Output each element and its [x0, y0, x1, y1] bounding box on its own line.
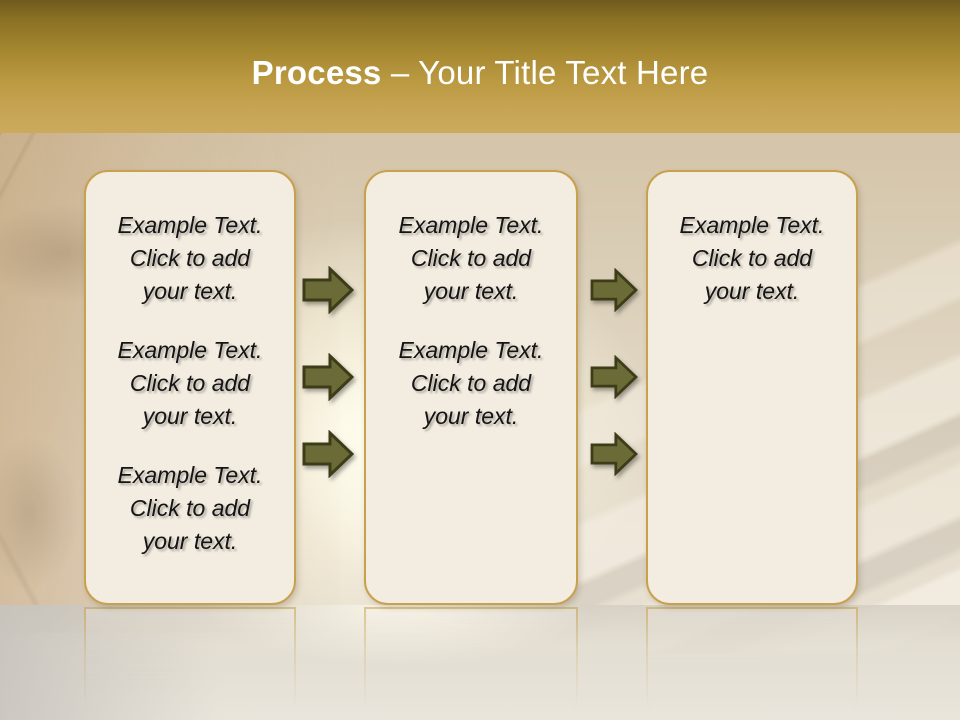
right-arrow-icon[interactable] [302, 266, 354, 314]
stage-2-text-block-1[interactable]: Example Text. Click to add your text. [378, 209, 564, 308]
stage-2-text-block-2[interactable]: Example Text. Click to add your text. [378, 334, 564, 433]
stage-1-text-block-2[interactable]: Example Text. Click to add your text. [98, 334, 282, 433]
right-arrow-icon[interactable] [590, 268, 638, 312]
process-stage-2[interactable]: Example Text. Click to add your text. Ex… [364, 170, 578, 605]
process-stage-1-content: Example Text. Click to add your text. Ex… [86, 209, 294, 558]
stage-1-text-block-3[interactable]: Example Text. Click to add your text. [98, 459, 282, 558]
stage-3-text-block-1[interactable]: Example Text. Click to add your text. [660, 209, 844, 308]
right-arrow-icon[interactable] [302, 430, 354, 478]
reflection-stage-1 [84, 607, 296, 720]
right-arrow-icon[interactable] [302, 353, 354, 401]
process-stage-3-content: Example Text. Click to add your text. [648, 209, 856, 308]
reflection-stage-3 [646, 607, 858, 720]
right-arrow-icon[interactable] [590, 432, 638, 476]
right-arrow-icon[interactable] [590, 355, 638, 399]
page-title-bold: Process [252, 54, 382, 91]
page-title-rest: – Your Title Text Here [381, 54, 708, 91]
slide-canvas: Process – Your Title Text Here Example T… [0, 0, 960, 720]
process-stage-1[interactable]: Example Text. Click to add your text. Ex… [84, 170, 296, 605]
process-stage-2-content: Example Text. Click to add your text. Ex… [366, 209, 576, 433]
reflection-stage-2 [364, 607, 578, 720]
process-stage-3[interactable]: Example Text. Click to add your text. [646, 170, 858, 605]
page-title: Process – Your Title Text Here [0, 53, 960, 93]
stage-1-text-block-1[interactable]: Example Text. Click to add your text. [98, 209, 282, 308]
